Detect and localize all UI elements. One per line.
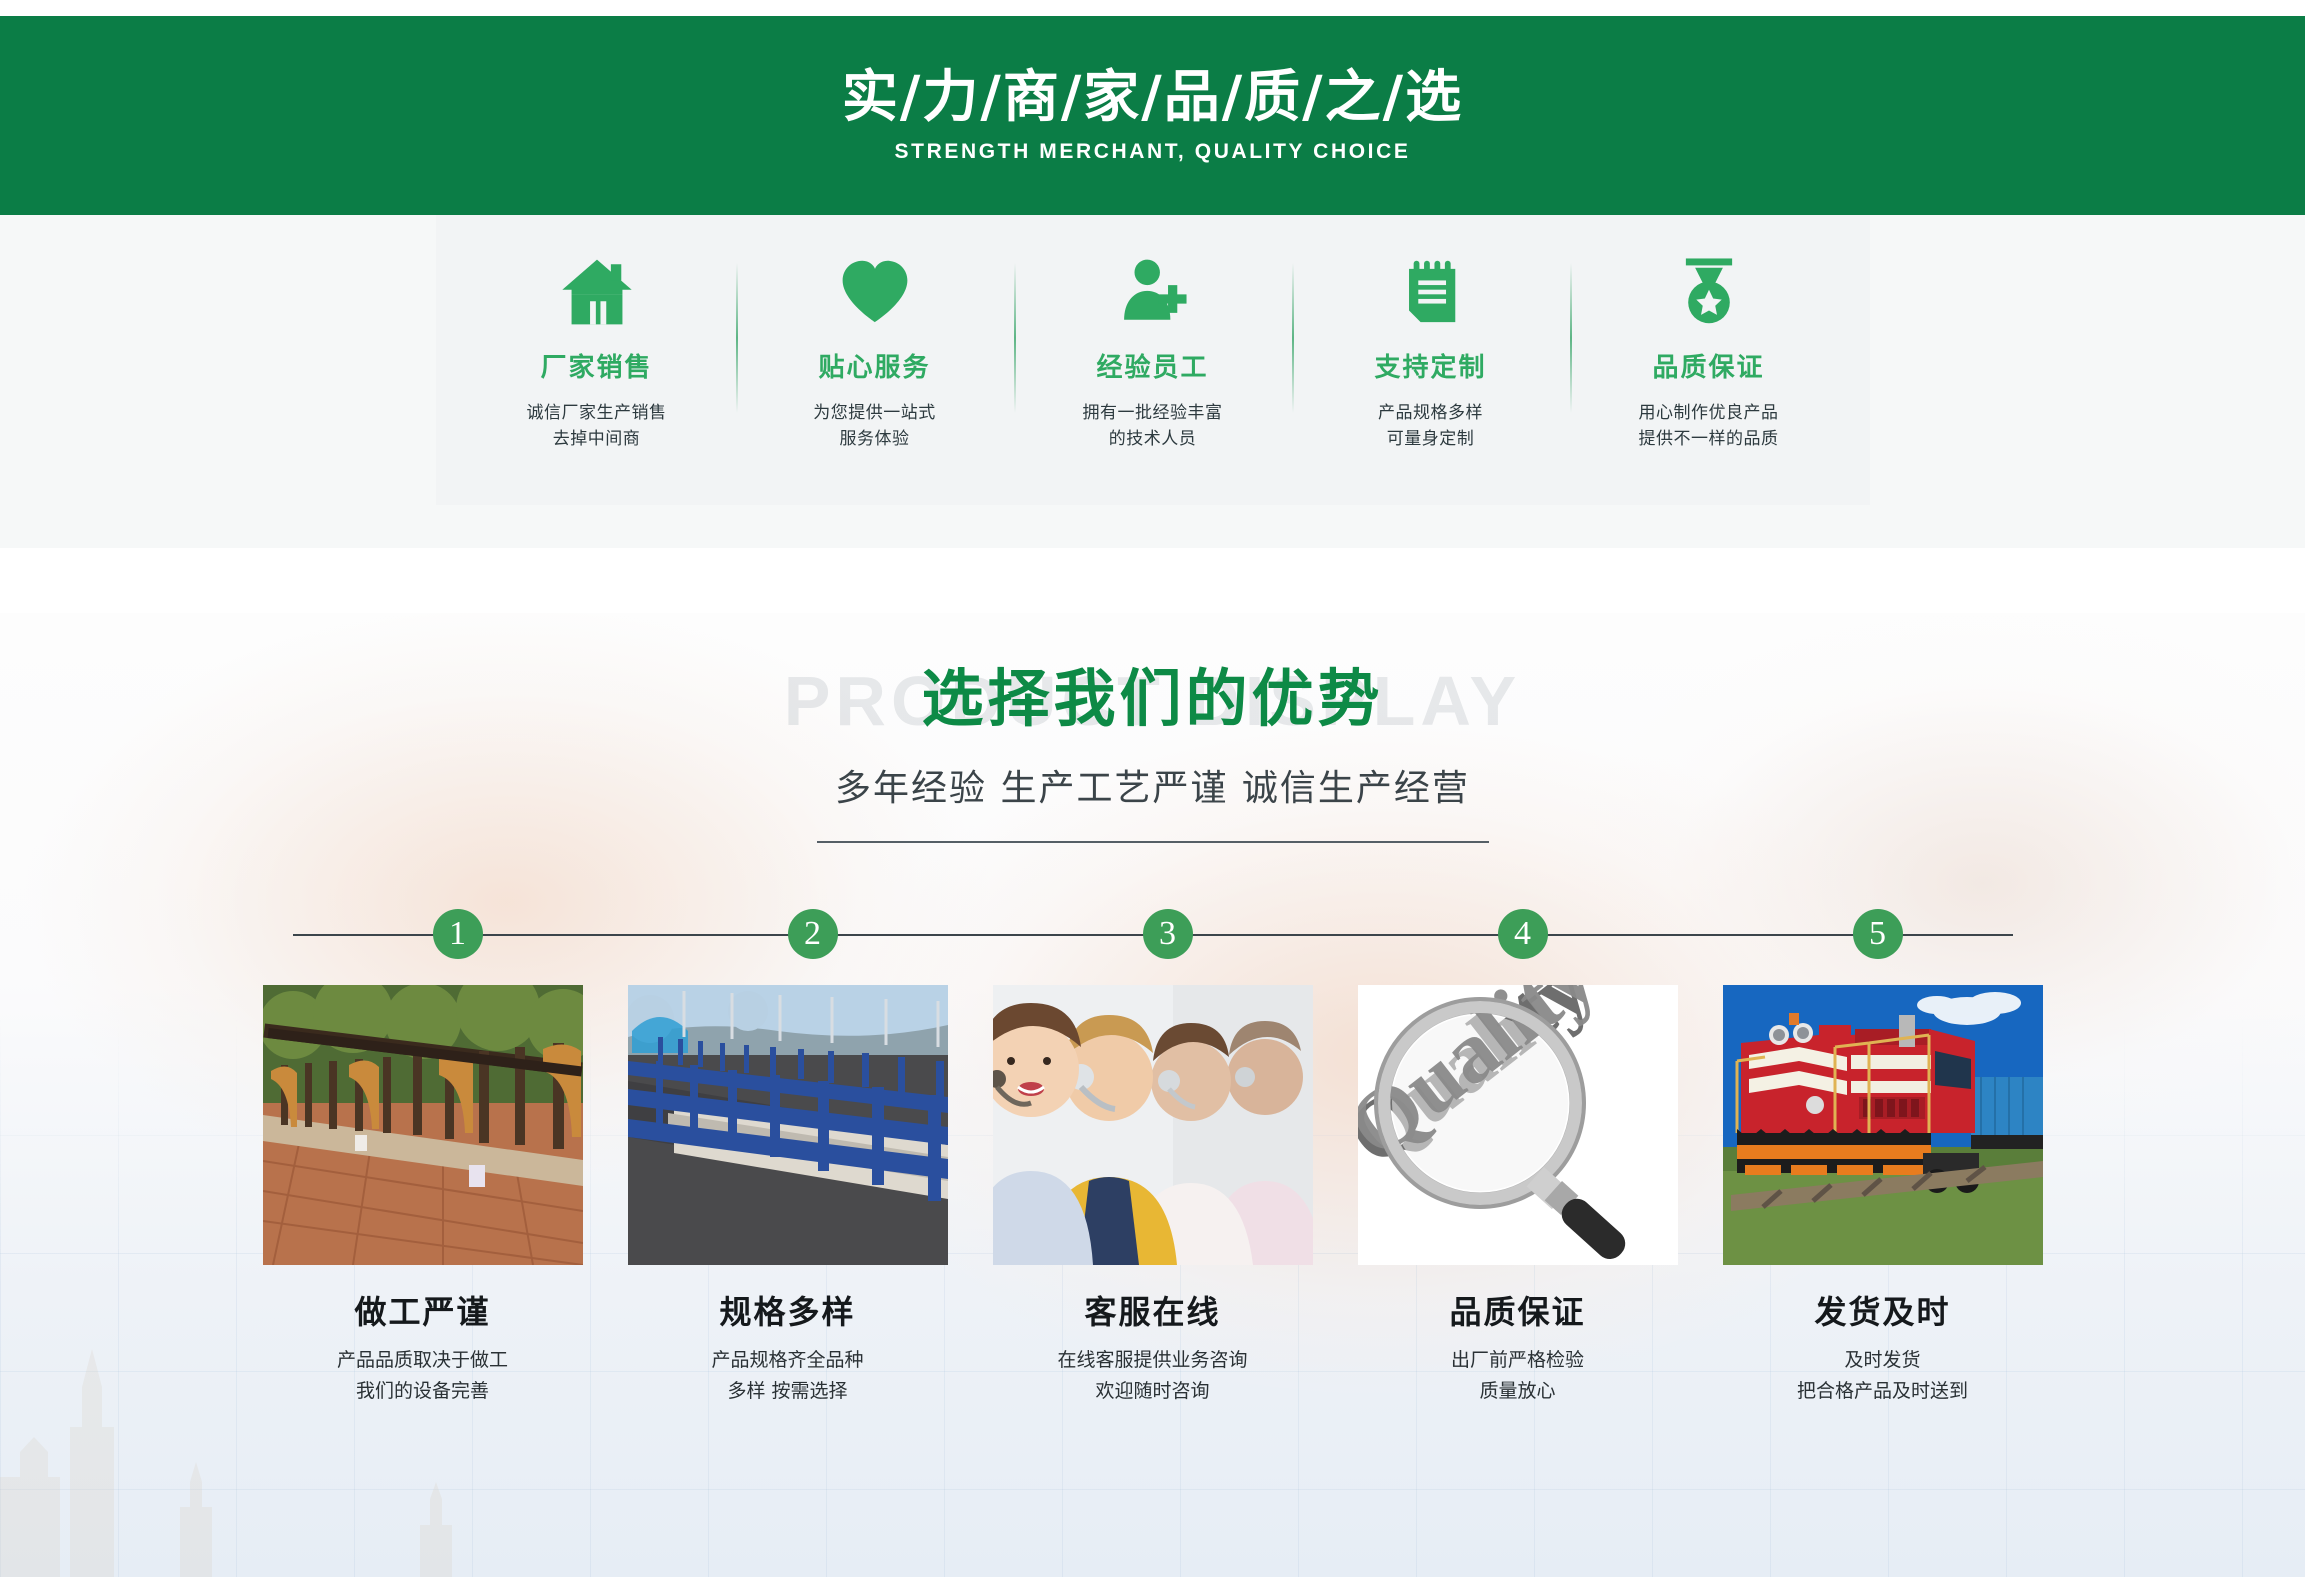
card-title: 品质保证 (1358, 1287, 1678, 1333)
product-card[interactable]: 做工严谨 产品品质取决于做工 我们的设备完善 (263, 985, 583, 1406)
card-desc: 出厂前严格检验 质量放心 (1358, 1345, 1678, 1406)
card-desc-line1: 产品品质取决于做工 (263, 1345, 583, 1375)
card-title: 做工严谨 (263, 1287, 583, 1333)
step-dot-5[interactable]: 5 (1853, 909, 1903, 959)
feature-desc: 为您提供一站式 服务体验 (813, 400, 936, 453)
step-dot-4[interactable]: 4 (1498, 909, 1548, 959)
house-icon (560, 253, 634, 331)
bronze-bridge-railing-photo[interactable] (263, 985, 583, 1265)
feature-desc-line1: 用心制作优良产品 (1639, 400, 1779, 426)
card-title: 规格多样 (628, 1287, 948, 1333)
step-dot-2[interactable]: 2 (788, 909, 838, 959)
feature-title: 贴心服务 (818, 347, 930, 384)
medal-icon (1672, 253, 1746, 331)
notepad-icon (1394, 253, 1468, 331)
blue-bridge-guardrail-photo[interactable] (628, 985, 948, 1265)
feature-item-quality-guarantee[interactable]: 品质保证 用心制作优良产品 提供不一样的品质 (1570, 253, 1848, 453)
card-desc: 产品规格齐全品种 多样 按需选择 (628, 1345, 948, 1406)
feature-desc-line1: 为您提供一站式 (813, 400, 936, 426)
step-timeline: 1 2 3 4 5 (293, 909, 2013, 959)
card-desc-line1: 在线客服提供业务咨询 (993, 1345, 1313, 1375)
feature-desc: 诚信厂家生产销售 去掉中间商 (527, 400, 667, 453)
card-desc: 产品品质取决于做工 我们的设备完善 (263, 1345, 583, 1406)
feature-desc: 产品规格多样 可量身定制 (1378, 400, 1483, 453)
banner-title: 实/力/商/家/品/质/之/选 (842, 67, 1463, 129)
step-dot-3[interactable]: 3 (1143, 909, 1193, 959)
card-title: 客服在线 (993, 1287, 1313, 1333)
feature-desc-line2: 的技术人员 (1083, 426, 1223, 452)
red-freight-locomotive-photo[interactable] (1723, 985, 2043, 1265)
advantage-subtitle: 多年经验 生产工艺严谨 诚信生产经营 (0, 759, 2305, 811)
feature-desc: 用心制作优良产品 提供不一样的品质 (1639, 400, 1779, 453)
feature-item-custom-support[interactable]: 支持定制 产品规格多样 可量身定制 (1292, 253, 1570, 453)
card-desc-line2: 把合格产品及时送到 (1723, 1376, 2043, 1406)
card-desc-line1: 产品规格齐全品种 (628, 1345, 948, 1375)
top-spacer (0, 0, 2305, 16)
product-card[interactable]: Quality Quality 品质保证 出厂前严格检验 质量放心 (1358, 985, 1678, 1406)
product-card-list: 做工严谨 产品品质取决于做工 我们的设备完善 (263, 985, 2043, 1406)
feature-desc-line2: 提供不一样的品质 (1639, 426, 1779, 452)
call-center-agents-photo[interactable] (993, 985, 1313, 1265)
feature-desc-line1: 产品规格多样 (1378, 400, 1483, 426)
user-plus-icon (1116, 253, 1190, 331)
feature-title: 经验员工 (1096, 347, 1208, 384)
feature-item-caring-service[interactable]: 贴心服务 为您提供一站式 服务体验 (736, 253, 1014, 453)
card-desc-line2: 欢迎随时咨询 (993, 1376, 1313, 1406)
card-title: 发货及时 (1723, 1287, 2043, 1333)
feature-title: 支持定制 (1374, 347, 1486, 384)
advantage-section: PRODUCT DISPLAY 选择我们的优势 多年经验 生产工艺严谨 诚信生产… (0, 613, 2305, 1577)
card-desc: 在线客服提供业务咨询 欢迎随时咨询 (993, 1345, 1313, 1406)
advantage-header: PRODUCT DISPLAY 选择我们的优势 多年经验 生产工艺严谨 诚信生产… (0, 613, 2305, 843)
quality-magnifier-photo[interactable]: Quality Quality (1358, 985, 1678, 1265)
feature-desc-line2: 可量身定制 (1378, 426, 1483, 452)
product-card[interactable]: 规格多样 产品规格齐全品种 多样 按需选择 (628, 985, 948, 1406)
card-desc-line2: 多样 按需选择 (628, 1376, 948, 1406)
white-gap (0, 548, 2305, 613)
step-dot-1[interactable]: 1 (433, 909, 483, 959)
card-desc: 及时发货 把合格产品及时送到 (1723, 1345, 2043, 1406)
card-desc-line1: 及时发货 (1723, 1345, 2043, 1375)
card-desc-line1: 出厂前严格检验 (1358, 1345, 1678, 1375)
advantage-divider (817, 841, 1489, 843)
feature-title: 品质保证 (1652, 347, 1764, 384)
feature-desc-line1: 诚信厂家生产销售 (527, 400, 667, 426)
feature-title: 厂家销售 (540, 347, 652, 384)
feature-desc: 拥有一批经验丰富 的技术人员 (1083, 400, 1223, 453)
features-section: 厂家销售 诚信厂家生产销售 去掉中间商 贴心服务 为您提供一站式 服务体验 (0, 215, 2305, 548)
features-card: 厂家销售 诚信厂家生产销售 去掉中间商 贴心服务 为您提供一站式 服务体验 (436, 215, 1870, 505)
heart-icon (838, 253, 912, 331)
card-desc-line2: 我们的设备完善 (263, 1376, 583, 1406)
banner-subtitle: STRENGTH MERCHANT, QUALITY CHOICE (895, 140, 1411, 164)
green-banner: 实/力/商/家/品/质/之/选 STRENGTH MERCHANT, QUALI… (0, 16, 2305, 215)
product-card[interactable]: 客服在线 在线客服提供业务咨询 欢迎随时咨询 (993, 985, 1313, 1406)
feature-item-factory-sales[interactable]: 厂家销售 诚信厂家生产销售 去掉中间商 (458, 253, 736, 453)
product-card[interactable]: 发货及时 及时发货 把合格产品及时送到 (1723, 985, 2043, 1406)
feature-desc-line2: 服务体验 (813, 426, 936, 452)
card-desc-line2: 质量放心 (1358, 1376, 1678, 1406)
feature-desc-line1: 拥有一批经验丰富 (1083, 400, 1223, 426)
feature-desc-line2: 去掉中间商 (527, 426, 667, 452)
advantage-title: 选择我们的优势 (0, 665, 2305, 733)
feature-item-experienced-staff[interactable]: 经验员工 拥有一批经验丰富 的技术人员 (1014, 253, 1292, 453)
